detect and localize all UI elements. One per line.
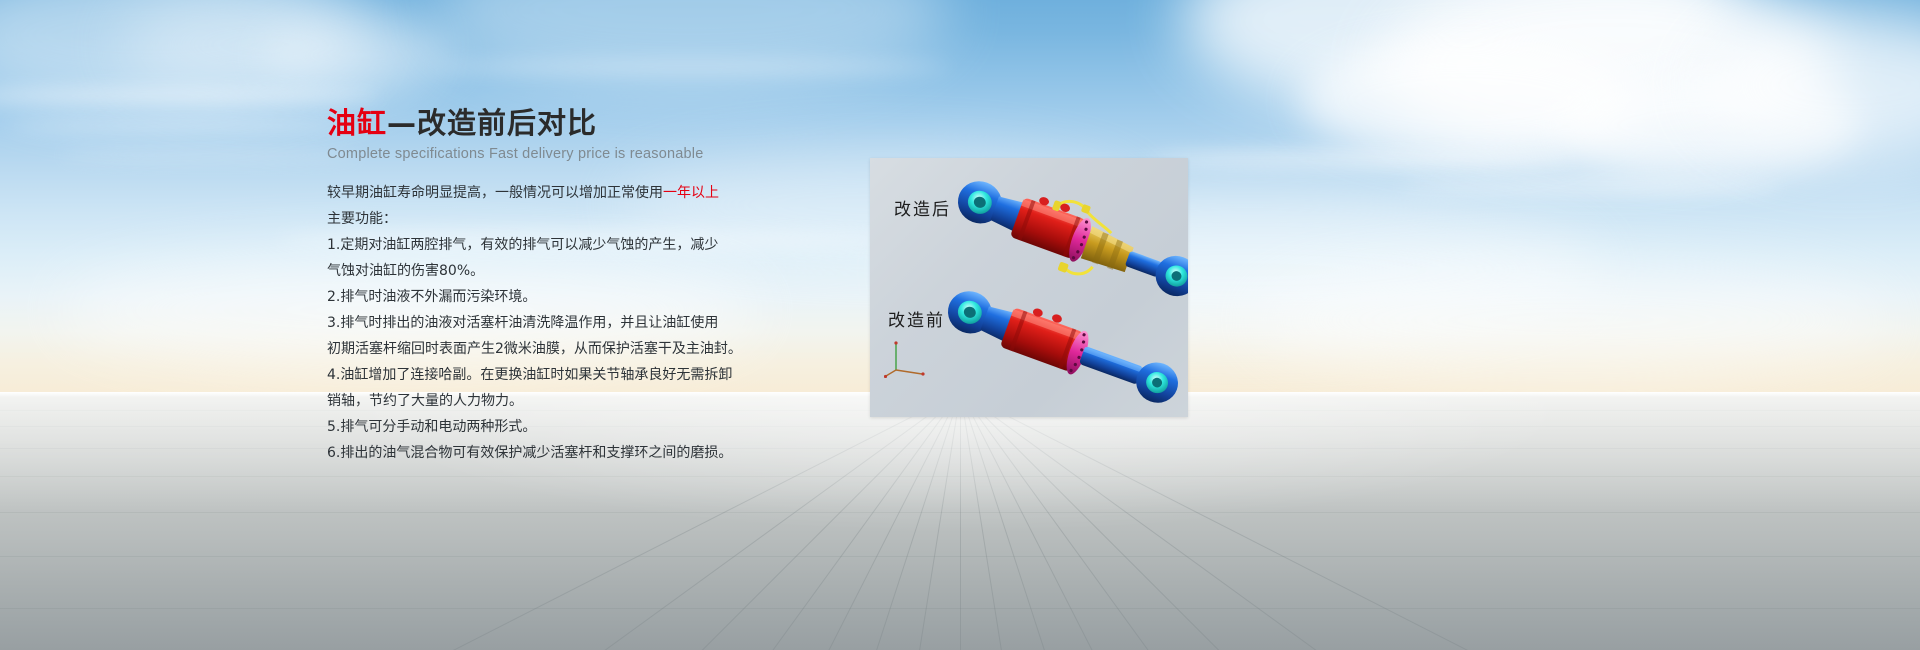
page-title: 油缸—改造前后对比: [327, 106, 747, 140]
label-before-modification: 改造前: [888, 306, 945, 331]
feature-line: 初期活塞杆缩回时表面产生2微米油膜，从而保护活塞干及主油封。: [327, 336, 747, 362]
feature-line: 6.排出的油气混合物可有效保护减少活塞杆和支撑环之间的磨损。: [327, 440, 747, 466]
feature-line: 气蚀对油缸的伤害80%。: [327, 258, 747, 284]
banner-stage: 油缸—改造前后对比 Complete specifications Fast d…: [0, 0, 1920, 650]
label-after-modification: 改造后: [894, 195, 951, 220]
intro-highlight: 一年以上: [663, 185, 719, 201]
axis-triad-icon: [884, 336, 928, 378]
feature-line: 4.油缸增加了连接哈副。在更换油缸时如果关节轴承良好无需拆卸: [327, 362, 747, 388]
title-highlight: 油缸: [327, 106, 387, 140]
feature-line: 2.排气时油液不外漏而污染环境。: [327, 284, 747, 310]
ground-plane: [0, 392, 1920, 650]
feature-line: 1.定期对油缸两腔排气，有效的排气可以减少气蚀的产生，减少: [327, 232, 747, 258]
feature-line: 5.排气可分手动和电动两种形式。: [327, 414, 747, 440]
intro-text: 较早期油缸寿命明显提高，一般情况可以增加正常使用: [327, 185, 663, 201]
cylinder-after: [947, 163, 1188, 316]
page-subtitle: Complete specifications Fast delivery pr…: [327, 146, 747, 162]
banner-text-block: 油缸—改造前后对比 Complete specifications Fast d…: [327, 106, 747, 466]
intro-line: 较早期油缸寿命明显提高，一般情况可以增加正常使用一年以上: [327, 180, 747, 206]
title-rest: —改造前后对比: [387, 106, 597, 140]
feature-line: 销轴，节约了大量的人力物力。: [327, 388, 747, 414]
feature-line: 3.排气时排出的油液对活塞杆油清洗降温作用，并且让油缸使用: [327, 310, 747, 336]
cylinder-before: [941, 278, 1187, 410]
functions-heading: 主要功能：: [327, 206, 747, 232]
comparison-image-panel: 改造后 改造前: [870, 158, 1188, 417]
feature-text: 较早期油缸寿命明显提高，一般情况可以增加正常使用一年以上 主要功能： 1.定期对…: [327, 180, 747, 466]
